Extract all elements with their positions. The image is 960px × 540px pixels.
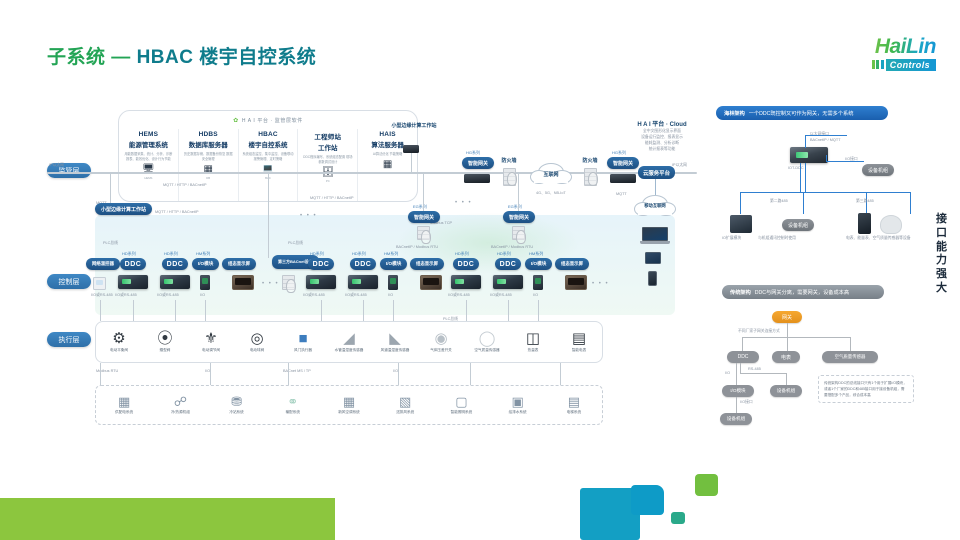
hais-en-label: HAIS <box>379 131 395 138</box>
plc-bus-label-2: PLC总线 <box>288 241 303 246</box>
protocol-ip-2: MQTT / HTTP / BACnetIP <box>155 210 199 214</box>
conn-io-v <box>826 155 827 162</box>
system-label-2: 冷站系统 <box>229 410 243 415</box>
logo-bars-icon <box>872 60 884 69</box>
hdbs-desc: 历史数据存储、数据备份恢复 数据安全管理 <box>182 152 234 162</box>
ddc-device-2 <box>160 275 190 289</box>
control-badge-io-3: I/O模块 <box>525 258 552 270</box>
system-0: ▦ 供配电系统 <box>96 395 152 415</box>
traditional-arch-title-em: 传统架构 <box>730 289 751 296</box>
water-icon: ▣ <box>511 395 523 408</box>
gateway-series-3: EG系列 <box>413 204 427 210</box>
tconn-meter <box>787 337 788 351</box>
control-badge-ddc-3: DDC <box>308 258 334 270</box>
exec-label-4: 风门执行器 <box>294 348 312 353</box>
supervision-column-hdbs: HDBS 数据库服务器 历史数据存储、数据备份恢复 数据安全管理 ▦ DB <box>179 129 239 201</box>
exec-drop-7 <box>466 300 467 321</box>
air-quality-sensor-device <box>880 215 902 234</box>
exec-drop-3 <box>205 300 206 321</box>
hdbs-en-label: HDBS <box>199 131 218 138</box>
phone-client <box>648 271 657 286</box>
control-badge-ddc-2: DDC <box>162 258 188 270</box>
branch-note: 不同厂家子网关连接方式 <box>738 329 780 334</box>
exec-device-3: ◎ 电动球阀 <box>234 331 280 353</box>
io-module-device-2 <box>388 275 398 290</box>
pressure-switch-icon: ◉ <box>434 331 447 346</box>
system-label-8: 电梯系统 <box>567 410 581 415</box>
control-series-7: HD系列 <box>455 251 469 257</box>
decoration-bottom-bar <box>0 498 335 540</box>
control-series-6: HM系列 <box>384 251 398 257</box>
io-module-device-1 <box>200 275 210 290</box>
control-caption-4: I/O或RS-485 <box>303 293 325 298</box>
node-gateway: 网关 <box>772 311 802 323</box>
sys-drop-4 <box>470 363 471 385</box>
firewall-label-2: 防火墙 <box>578 157 602 164</box>
system-label-0: 供配电系统 <box>115 410 133 415</box>
bus-label-right: IP以太网 <box>672 163 687 168</box>
gateway-device-2 <box>610 174 636 183</box>
engineer-icon-caption: PC <box>326 179 330 183</box>
exec-label-9: 热量表 <box>528 348 539 353</box>
fan-icon: ▧ <box>399 395 411 408</box>
exec-label-6: 风道温湿度传感器 <box>381 348 410 353</box>
butterfly-valve-icon: ⦿ <box>157 331 172 346</box>
tablet-client <box>645 252 661 264</box>
protocol-mqtt-top: MQTT <box>616 192 627 196</box>
exec-label-7: 气体压差开关 <box>430 348 452 353</box>
internet-label: 互联网 <box>530 171 572 178</box>
sys-drop-3 <box>398 363 399 385</box>
laptop-client <box>640 227 670 245</box>
ip-ethernet-bus <box>47 172 697 174</box>
control-caption-0: I/O或RS-485 <box>91 293 113 298</box>
gateway-device-3 <box>417 226 430 240</box>
control-series-9: HM系列 <box>529 251 543 257</box>
tconn-ddc-h <box>740 373 786 374</box>
control-series-4: HD系列 <box>310 251 324 257</box>
control-caption-8: I/O或RS-485 <box>490 293 512 298</box>
meter-device <box>858 213 871 234</box>
duct-sensor-icon: ◣ <box>389 331 401 346</box>
group-ellipsis-1: • • • <box>262 281 279 287</box>
edge-station-label: 小型边缘计算工作站 <box>384 123 444 131</box>
system-4: ▦ 新风空调系统 <box>321 395 377 415</box>
cloud-platform-drop <box>655 179 656 195</box>
engineer-desc: DDC程序编写、系统组态配置 现场参数调试设计 <box>302 155 354 165</box>
plc-bus-label-1: PLC总线 <box>103 241 118 246</box>
exec-device-10: ▤ 智能电表 <box>556 331 602 353</box>
node-equipment-center: 设备机组 <box>782 219 814 231</box>
gateway-series-1: HG系列 <box>466 150 480 156</box>
rs485-label: RS-485 <box>748 367 761 371</box>
exec-label-5: 水管温湿度传感器 <box>335 348 364 353</box>
exec-device-2: ⚜ 电动调节阀 <box>188 331 234 353</box>
edge-gateway-badge: 小型边缘计算工作站 <box>95 203 152 215</box>
gateway-badge-3: 智能网关 <box>408 211 440 223</box>
conn-trunk-2 <box>805 163 806 193</box>
sys-drop-2 <box>288 363 289 385</box>
protocol-ip-3: MQTT / HTTP / BACnetIP <box>310 196 354 200</box>
edge-station-device <box>403 145 419 153</box>
hbac-cn-label: 楼宇自控系统 <box>248 139 287 149</box>
ai-server-icon: ▦ <box>383 160 392 170</box>
iot-ddc-port-top-label: 以太网接口 BACnetIP / MQTT <box>810 132 841 143</box>
hems-icon-caption: HEMS <box>144 176 152 180</box>
control-series-1: HD系列 <box>122 251 136 257</box>
decoration-block-small-green <box>671 512 685 524</box>
exec-label-3: 电动球阀 <box>250 348 264 353</box>
engineer-en-label: 工程师站 <box>314 131 341 141</box>
bus-label-left: IP以太网 <box>49 163 64 168</box>
node-center-desc: 与机组通讯控制时使用 <box>758 236 796 241</box>
hailin-arch-title: 海林架构 一个DDC既控制又可作为网关，无需多个系统 <box>716 106 888 120</box>
bus-right-label: 第三路485 <box>856 199 874 204</box>
page-title-dash: — <box>106 47 137 68</box>
exec-drop-5 <box>363 300 364 321</box>
sys-drop-1 <box>210 363 211 385</box>
bus-left-label: 第二路485 <box>770 199 788 204</box>
exec-device-7: ◉ 气体压差开关 <box>418 331 464 353</box>
control-badge-thermostat: 网络温控器 <box>86 258 120 270</box>
hailin-logo: HaiLin Controls <box>832 33 936 73</box>
control-badge-io-2: I/O模块 <box>380 258 407 270</box>
conn-mid-down <box>803 192 804 214</box>
hems-desc: 用能数据采集、统计、分析、诊断 报表、能效优化、设计行为节能 <box>123 152 175 162</box>
control-caption-3: I/O <box>200 293 205 297</box>
node-equipment-1: 设备机组 <box>770 385 802 397</box>
engineer-cn-label: 工作站 <box>318 142 338 152</box>
protocol-rtu-2: BACnetIP / Modbus RTU <box>491 245 533 249</box>
sys-drop-5 <box>560 363 561 385</box>
node-equipment-2: 设备机组 <box>720 413 752 425</box>
tconn-io-to-equip <box>736 397 737 413</box>
exec-drop-9 <box>538 300 539 321</box>
exec-device-9: ◫ 热量表 <box>510 331 556 353</box>
tconn-io-down <box>736 363 737 385</box>
supervision-column-hais: HAIS 算法服务器 AI算法优化 节能策略 ▦ AI <box>358 129 417 201</box>
hailin-arch-title-rest: 一个DDC既控制又可作为网关，无需多个系统 <box>749 110 854 117</box>
node-meter-label: IO扩展模块 <box>722 236 741 241</box>
exec-label-0: 电动平衡阀 <box>110 348 128 353</box>
control-caption-7: I/O或RS-485 <box>448 293 470 298</box>
bus-drop-edge <box>110 172 111 203</box>
node-ddc: DDC <box>727 351 759 363</box>
control-caption-2: I/O或RS-485 <box>157 293 179 298</box>
page-title: 子系统 — HBAC 楼宇自控系统 <box>47 42 316 69</box>
exec-device-4: ■ 风门执行器 <box>280 331 326 353</box>
ddc-device-3 <box>306 275 336 289</box>
hais-cn-label: 算法服务器 <box>371 139 404 149</box>
hmi-panel-device-3 <box>565 275 587 290</box>
exec-device-6: ◣ 风道温湿度传感器 <box>372 331 418 353</box>
control-caption-6: I/O <box>388 293 393 297</box>
hems-en-label: HEMS <box>139 131 159 138</box>
ddc-device-1 <box>118 275 148 289</box>
mobile-internet-cloud: 移动互联网 <box>634 195 676 217</box>
protocol-rtu-1: BACnetIP / Modbus RTU <box>396 245 438 249</box>
system-3: ⚭ 输配系统 <box>265 395 321 415</box>
conn-left-down <box>740 192 741 214</box>
io-port-label: I/O接口 <box>740 400 753 405</box>
exec-drop-0 <box>100 300 101 321</box>
node-right-desc: 电表、能量表、空气质量传感器等设备 <box>846 236 911 241</box>
chiller-icon: ☍ <box>174 395 187 408</box>
exec-device-0: ⚙ 电动平衡阀 <box>96 331 142 353</box>
system-label-4: 新风空调系统 <box>338 410 360 415</box>
internet-cloud: 互联网 <box>530 163 572 185</box>
iot-ddc-device <box>790 147 828 163</box>
control-caption-9: I/O <box>533 293 538 297</box>
node-equipment-right: 设备机组 <box>862 164 894 176</box>
hailin-arch-title-em: 海林架构 <box>724 110 745 117</box>
exec-drop-6 <box>393 300 394 321</box>
exec-label-2: 电动调节阀 <box>202 348 220 353</box>
exec-label-8: 空气质量传感器 <box>474 348 499 353</box>
layer-pill-control: 控制层 <box>47 274 91 289</box>
decoration-block-green <box>695 474 718 496</box>
firewall-icon-1 <box>503 168 516 186</box>
exec-drop-2 <box>175 300 176 321</box>
damper-actuator-icon: ■ <box>298 331 307 346</box>
system-label-1: 冷/热源机组 <box>171 410 190 415</box>
io-label: I/O <box>725 371 730 375</box>
gateway-badge-4: 智能网关 <box>503 211 535 223</box>
ddc-device-6 <box>493 275 523 289</box>
control-badge-ddc-1: DDC <box>120 258 146 270</box>
system-2: ⛃ 冷站系统 <box>208 395 264 415</box>
control-badge-hmi-3: 组态显示屏 <box>555 258 589 270</box>
conn-far-right-down <box>910 192 911 214</box>
exec-drop-4 <box>321 300 322 321</box>
cloud-platform-badge: 云服务平台 <box>638 166 675 179</box>
control-badge-ddc-4: DDC <box>350 258 376 270</box>
exec-label-10: 智能电表 <box>572 348 586 353</box>
network-ellipsis: • • • <box>455 200 472 206</box>
gateway-series-2: HG系列 <box>612 150 626 156</box>
valve-icon: ⚙ <box>112 331 125 346</box>
supervision-panel-header: ✿ H A I 平台 · 监管层软件 <box>119 117 417 124</box>
page-title-main: HBAC 楼宇自控系统 <box>137 47 317 68</box>
exec-drop-8 <box>508 300 509 321</box>
gateway-device-4 <box>512 226 525 240</box>
supervision-panel-header-text: H A I 平台 · 监管层软件 <box>242 117 303 124</box>
ball-valve-icon: ◎ <box>250 331 263 346</box>
bus-drop-eg2 <box>518 172 519 211</box>
elevator-icon: ▤ <box>568 395 580 408</box>
gateway-series-4: EG系列 <box>508 204 522 210</box>
control-series-5: HD系列 <box>352 251 366 257</box>
hbac-en-label: HBAC <box>258 131 278 138</box>
system-label-6: 智能照明系统 <box>451 410 473 415</box>
building-systems-panel: ▦ 供配电系统 ☍ 冷/热源机组 ⛃ 冷站系统 ⚭ 输配系统 ▦ 新风空调系统 … <box>95 385 603 425</box>
conn-top-h <box>805 135 847 136</box>
system-label-5: 送排风系统 <box>396 410 414 415</box>
hmi-panel-device-1 <box>232 275 254 290</box>
smart-meter-icon: ▤ <box>572 331 586 346</box>
heat-meter-icon: ◫ <box>526 331 540 346</box>
iot-ddc-label: IOT-DDC <box>788 166 804 170</box>
tconn-ddc <box>742 337 743 351</box>
conn-top <box>805 135 806 148</box>
control-badge-ddc-5: DDC <box>453 258 479 270</box>
group-ellipsis-2: • • • <box>592 281 609 287</box>
logo-subtitle: Controls <box>886 59 936 71</box>
interface-capability-text: 接口能力强大 <box>934 213 950 296</box>
hbac-desc: 系统组态监控、集中监控、设备联动 报警管理、定时策略 <box>242 152 294 162</box>
hdbs-cn-label: 数据库服务器 <box>189 139 228 149</box>
traditional-arch-note: 传统架构DDC的总线接口只有1个用于扩展I/O模块，或者1个厂家的DDC和485… <box>818 375 914 403</box>
architecture-diagram: 监管层 控制层 执行层 ✿ H A I 平台 · 监管层软件 HEMS 能源管理… <box>0 95 960 455</box>
ahu-icon: ▦ <box>343 395 355 408</box>
execution-device-panel: ⚙ 电动平衡阀 ⦿ 蝶型阀 ⚜ 电动调节阀 ◎ 电动球阀 ■ 风门执行器 ◢ 水… <box>95 321 603 363</box>
firewall-label-1: 防火墙 <box>497 157 521 164</box>
conn-io <box>826 161 864 162</box>
system-5: ▧ 送排风系统 <box>377 395 433 415</box>
system-label-7: 给排水系统 <box>509 410 527 415</box>
water-sensor-icon: ◢ <box>343 331 355 346</box>
network-ellipsis-2: • • • <box>300 213 317 219</box>
tconn-485-down <box>786 373 787 385</box>
control-badge-ddc-6: DDC <box>495 258 521 270</box>
control-caption-5: I/O或RS-485 <box>345 293 367 298</box>
ddc-device-5 <box>451 275 481 289</box>
exec-label-1: 蝶型阀 <box>160 348 171 353</box>
supervision-column-hems: HEMS 能源管理系统 用能数据采集、统计、分析、诊断 报表、能效优化、设计行为… <box>119 129 179 201</box>
pump-icon: ⚭ <box>287 395 298 408</box>
system-7: ▣ 给排水系统 <box>490 395 546 415</box>
control-series-2: HD系列 <box>164 251 178 257</box>
system-label-3: 输配系统 <box>286 410 300 415</box>
tconn-h <box>742 337 850 338</box>
conn-trunk-1 <box>800 163 801 193</box>
exec-device-1: ⦿ 蝶型阀 <box>142 331 188 353</box>
control-caption-1: I/O或RS-485 <box>115 293 137 298</box>
layer-pill-execution: 执行层 <box>47 332 91 347</box>
edge-drop-line <box>411 153 412 172</box>
power-icon: ▦ <box>118 395 130 408</box>
control-badge-hmi-1: 组态显示屏 <box>222 258 256 270</box>
hdbs-icon-caption: DB <box>206 176 210 180</box>
exec-device-8: ◯ 空气质量传感器 <box>464 331 510 353</box>
protocol-ip-1: MQTT / HTTP / BACnetIP <box>163 183 207 187</box>
firewall-icon-2 <box>584 168 597 186</box>
system-1: ☍ 冷/热源机组 <box>152 395 208 415</box>
exec-device-5: ◢ 水管温湿度传感器 <box>326 331 372 353</box>
exec-drop-1 <box>133 300 134 321</box>
control-badge-io-1: I/O模块 <box>192 258 219 270</box>
lighting-icon: ▢ <box>455 395 467 408</box>
tconn-aq <box>850 337 851 351</box>
node-air-quality: 空气质量传感器 <box>822 351 878 363</box>
third-party-device <box>282 275 295 290</box>
ddc-device-4 <box>348 275 378 289</box>
bus-drop-mid <box>268 172 269 258</box>
leaf-icon: ✿ <box>233 117 239 124</box>
io-expansion-device <box>730 215 752 233</box>
gateway-badge-2: 智能网关 <box>607 157 639 169</box>
network-thermostat-device <box>93 277 106 290</box>
tconn-root <box>787 323 788 337</box>
gateway-device-1 <box>464 174 490 183</box>
bus-drop-eg1 <box>423 172 424 211</box>
node-meter-trad: 电表 <box>772 351 800 363</box>
tconn-ddc-down <box>740 363 741 373</box>
mobile-internet-label: 移动互联网 <box>634 203 676 209</box>
control-series-8: HD系列 <box>497 251 511 257</box>
system-8: ▤ 电梯系统 <box>546 395 602 415</box>
protocol-4g-label: 4G、5G、NB-IoT <box>536 191 566 196</box>
control-valve-icon: ⚜ <box>204 331 217 346</box>
decoration-block-blue <box>631 485 664 515</box>
traditional-arch-title-rest: DDC与网关分离，需要网关，设备成本高 <box>755 289 849 296</box>
traditional-arch-title: 传统架构 DDC与网关分离，需要网关，设备成本高 <box>722 285 884 299</box>
sys-drop-0 <box>100 363 101 385</box>
control-badge-hmi-2: 组态显示屏 <box>410 258 444 270</box>
hmi-panel-device-2 <box>420 275 442 290</box>
io-module-device-3 <box>533 275 543 290</box>
logo-wordmark: HaiLin <box>875 36 936 57</box>
hai-cloud-desc: 全中文图形化显示界面 设备运行监控、报表显示 能耗监测、分析诊断 统计报表等功能 <box>612 128 712 152</box>
gateway-badge-1: 智能网关 <box>462 157 494 169</box>
node-io-module: I/O模块 <box>722 385 754 397</box>
conn-bus-h <box>740 192 910 193</box>
supervision-column-engineer: 工程师站 工作站 DDC程序编写、系统组态配置 现场参数调试设计 🗄 PC <box>298 129 358 201</box>
hems-cn-label: 能源管理系统 <box>129 139 168 149</box>
cold-station-icon: ⛃ <box>231 395 242 408</box>
page-title-prefix: 子系统 <box>47 47 106 68</box>
hai-cloud-title: H A I 平台 · Cloud <box>612 119 712 128</box>
air-quality-icon: ◯ <box>479 331 496 346</box>
control-series-3: HM系列 <box>196 251 210 257</box>
system-6: ▢ 智能照明系统 <box>433 395 489 415</box>
